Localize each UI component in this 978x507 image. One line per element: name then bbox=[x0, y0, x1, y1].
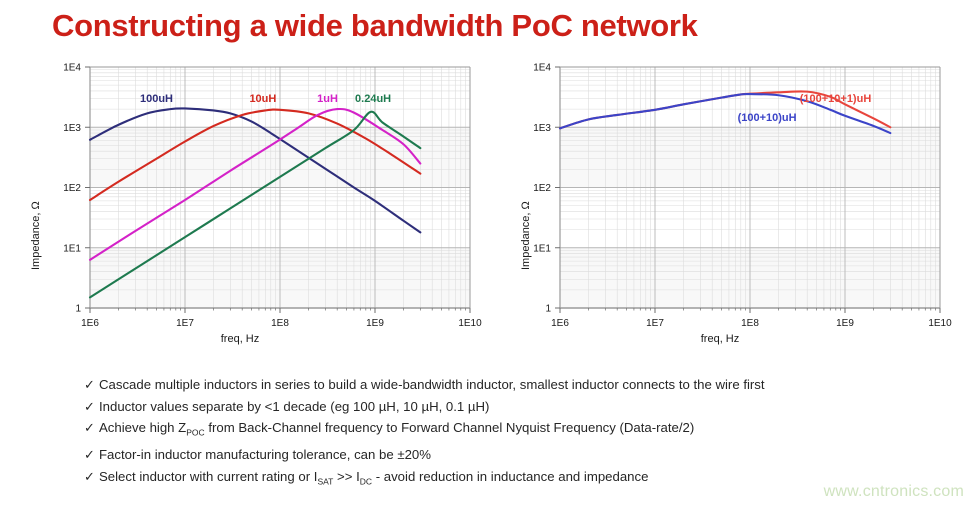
series-annotation: 10uH bbox=[249, 93, 276, 105]
chart-left-xtick-label: 1E8 bbox=[271, 318, 289, 329]
bullet-text-run: - avoid reduction in inductance and impe… bbox=[372, 469, 648, 484]
bullet-item: ✓Achieve high ZPOC from Back-Channel fre… bbox=[84, 417, 964, 444]
bullet-item: ✓Cascade multiple inductors in series to… bbox=[84, 374, 964, 396]
series-annotation: 0.24uH bbox=[355, 93, 391, 105]
chart-right-ytick-label: 1E1 bbox=[533, 243, 551, 254]
chart-right-canvas: 1E61E71E81E91E1011E11E21E31E4(100+10+1)u… bbox=[500, 55, 970, 355]
chart-right-xtick-label: 1E7 bbox=[646, 318, 664, 329]
chart-right-xtick-label: 1E8 bbox=[741, 318, 759, 329]
chart-left-xtick-label: 1E7 bbox=[176, 318, 194, 329]
chart-left-ylabel: Impedance, Ω bbox=[30, 201, 42, 270]
chart-left-xtick-label: 1E9 bbox=[366, 318, 384, 329]
bullet-item: ✓Factor-in inductor manufacturing tolera… bbox=[84, 444, 964, 466]
bullet-subscript: POC bbox=[186, 428, 204, 438]
bullet-item: ✓Inductor values separate by <1 decade (… bbox=[84, 396, 964, 418]
chart-right-ylabel: Impedance, Ω bbox=[520, 201, 532, 270]
bullet-list: ✓Cascade multiple inductors in series to… bbox=[84, 374, 964, 493]
chart-left-xtick-label: 1E6 bbox=[81, 318, 99, 329]
chart-cascaded-inductors: 1E61E71E81E91E1011E11E21E31E4(100+10+1)u… bbox=[500, 55, 970, 355]
bullet-subscript: DC bbox=[360, 476, 372, 486]
bullet-text: Factor-in inductor manufacturing toleran… bbox=[99, 447, 431, 462]
slide-root: Constructing a wide bandwidth PoC networ… bbox=[0, 0, 978, 507]
chart-left-ytick-label: 1E3 bbox=[63, 123, 81, 134]
chart-left-xtick-label: 1E10 bbox=[458, 318, 482, 329]
chart-right-ytick-label: 1E3 bbox=[533, 123, 551, 134]
bullet-text-run: from Back-Channel frequency to Forward C… bbox=[205, 420, 695, 435]
bullet-text-run: Factor-in inductor manufacturing toleran… bbox=[99, 447, 431, 462]
check-icon: ✓ bbox=[84, 396, 99, 418]
bullet-text-run: Select inductor with current rating or I bbox=[99, 469, 317, 484]
bullet-subscript: SAT bbox=[317, 476, 333, 486]
chart-right-ytick-label: 1E4 bbox=[533, 63, 551, 74]
chart-right-xtick-label: 1E10 bbox=[928, 318, 952, 329]
chart-left-ytick-label: 1E2 bbox=[63, 183, 81, 194]
series-annotation: 100uH bbox=[140, 93, 173, 105]
bullet-text-run: Cascade multiple inductors in series to … bbox=[99, 377, 765, 392]
check-icon: ✓ bbox=[84, 374, 99, 396]
chart-right-xtick-label: 1E6 bbox=[551, 318, 569, 329]
chart-left-ytick-label: 1E4 bbox=[63, 63, 81, 74]
watermark: www.cntronics.com bbox=[824, 483, 964, 501]
check-icon: ✓ bbox=[84, 417, 99, 439]
bullet-text-run: >> I bbox=[333, 469, 359, 484]
chart-left-ytick-label: 1E1 bbox=[63, 243, 81, 254]
series-annotation: (100+10+1)uH bbox=[800, 93, 872, 105]
chart-left-xlabel: freq, Hz bbox=[40, 333, 440, 345]
bullet-text: Inductor values separate by <1 decade (e… bbox=[99, 399, 489, 414]
bullet-text: Cascade multiple inductors in series to … bbox=[99, 377, 765, 392]
bullet-text-run: Achieve high Z bbox=[99, 420, 186, 435]
check-icon: ✓ bbox=[84, 444, 99, 466]
chart-right-ytick-label: 1E2 bbox=[533, 183, 551, 194]
bullet-text: Achieve high ZPOC from Back-Channel freq… bbox=[99, 420, 694, 435]
chart-left-canvas: 1E61E71E81E91E1011E11E21E31E4100uH10uH1u… bbox=[20, 55, 490, 355]
bullet-text-run: Inductor values separate by <1 decade (e… bbox=[99, 399, 489, 414]
chart-right-xlabel: freq, Hz bbox=[510, 333, 930, 345]
page-title: Constructing a wide bandwidth PoC networ… bbox=[52, 6, 932, 46]
chart-left-ytick-label: 1 bbox=[75, 304, 81, 315]
chart-individual-inductors: 1E61E71E81E91E1011E11E21E31E4100uH10uH1u… bbox=[20, 55, 490, 355]
chart-right-xtick-label: 1E9 bbox=[836, 318, 854, 329]
series-annotation: (100+10)uH bbox=[738, 112, 797, 124]
series-annotation: 1uH bbox=[317, 93, 338, 105]
bullet-text: Select inductor with current rating or I… bbox=[99, 469, 648, 484]
chart-right-ytick-label: 1 bbox=[545, 304, 551, 315]
check-icon: ✓ bbox=[84, 466, 99, 488]
